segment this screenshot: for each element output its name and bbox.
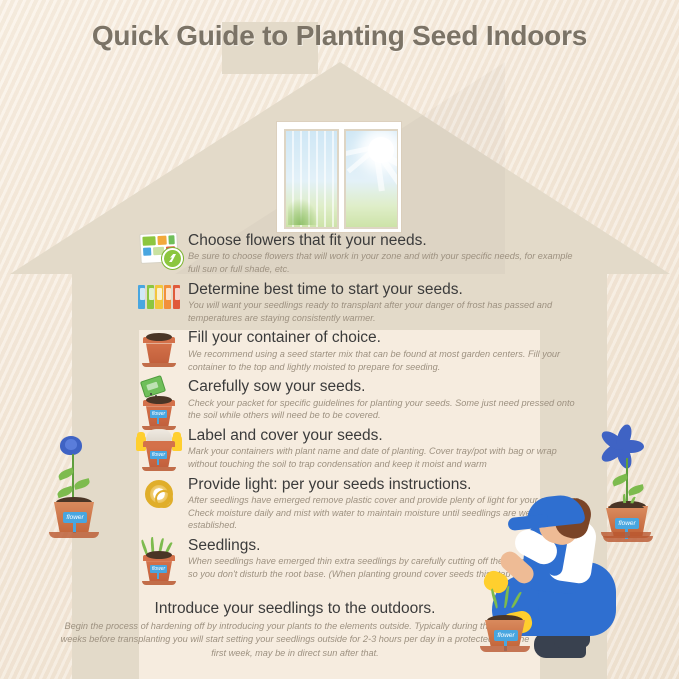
rose-flower-icon [58,434,84,458]
step-item-choose-flowers: Choose flowers that fit your needs. Be s… [136,232,586,276]
step-item-label-cover: flower Label and cover your seeds. Mark … [136,427,586,471]
leaf-badge-icon [162,248,183,269]
step-body: We recommend using a seed starter mix th… [188,348,586,373]
step-body: You will want your seedlings ready to tr… [188,299,586,324]
window-pane-right [344,129,399,229]
gardener-illustration: flower [446,492,679,679]
calendar-icon [136,281,182,325]
step-body: Mark your containers with plant name and… [188,445,586,470]
pot-tag-label: flower [63,512,87,523]
infographic-poster: Quick Guide to Planting Seed Indoors Cho… [0,0,679,679]
pot-tag-label: flower [150,410,167,418]
gloves-covered-pot-icon: flower [136,427,182,471]
filled-pot-icon [136,329,182,373]
seed-catalog-icon [136,232,182,276]
pot-tag-label: flower [150,451,167,459]
pot-tag-label: flower [615,518,639,529]
page-title: Quick Guide to Planting Seed Indoors [0,20,679,52]
step-item-fill-container: Fill your container of choice. We recomm… [136,329,586,373]
seedling-pot-icon: flower [136,537,182,581]
step-heading: Determine best time to start your seeds. [188,281,586,298]
step-heading: Choose flowers that fit your needs. [188,232,586,249]
step-item-determine-time: Determine best time to start your seeds.… [136,281,586,325]
step-item-sow-seeds: flower Carefully sow your seeds. Check y… [136,378,586,422]
step-heading: Carefully sow your seeds. [188,378,586,395]
flower-pot: flower [52,502,96,538]
step-heading: Label and cover your seeds. [188,427,586,444]
step-body: Check your packet for specific guideline… [188,397,586,422]
star-flower-icon [598,424,652,470]
seed-packet-sowing-icon: flower [136,378,182,422]
window-illustration [277,122,401,232]
left-potted-flower: flower [38,420,108,540]
window-pane-left [284,129,339,229]
step-body: Be sure to choose flowers that will work… [188,250,586,275]
pot-tag-label: flower [150,565,167,573]
window-greenery [288,199,318,225]
background-potted-seedling: flower [602,494,650,538]
gardener-potted-seedling: flower [482,600,528,652]
light-ring-icon [136,476,182,520]
step-heading: Fill your container of choice. [188,329,586,346]
step-heading: Provide light: per your seeds instructio… [188,476,586,493]
pot-tag-label: flower [494,630,518,641]
